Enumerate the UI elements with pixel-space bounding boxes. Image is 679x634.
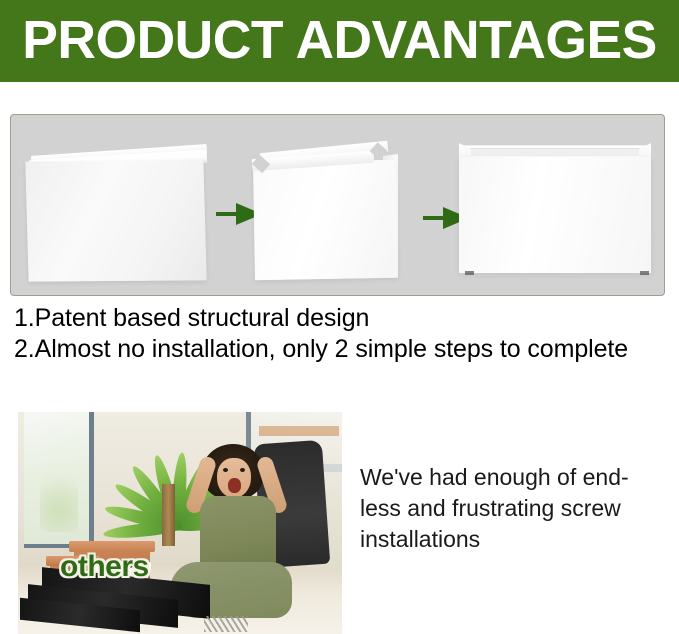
diagram-stage-partially-unfolded-panel [254,141,402,283]
pain-copy-line-2: less and frustrating screw [360,493,660,524]
box-foot-right [640,271,649,275]
assembly-steps-diagram [10,114,665,296]
page-title: PRODUCT ADVANTAGES [22,13,657,70]
others-comparison-photo: others [18,412,342,634]
pain-point-copy: We've had enough of end- less and frustr… [360,462,660,555]
box-front-face [459,157,651,273]
panel-front-face [253,160,398,280]
pain-copy-line-3: installations [360,524,660,555]
photo-person-eye-left [223,468,228,472]
photo-scattered-screws [204,616,248,632]
advantage-item-2: 2.Almost no installation, only 2 simple … [14,334,674,365]
advantage-item-1: 1.Patent based structural design [14,303,674,334]
box-rim-inner [469,148,641,156]
advantages-list: 1.Patent based structural design 2.Almos… [14,303,674,365]
pain-copy-line-1: We've had enough of end- [360,462,660,493]
box-foot-left [465,271,474,275]
panel-face [25,160,206,281]
photo-person-eye-right [240,468,245,472]
header-banner: PRODUCT ADVANTAGES [0,0,679,82]
diagram-stage-assembled-box [459,143,655,275]
others-label: others [60,550,149,584]
diagram-stage-flat-packed-panel [27,147,209,283]
photo-person-mouth [228,478,241,493]
photo-plant-trunk [162,484,175,546]
